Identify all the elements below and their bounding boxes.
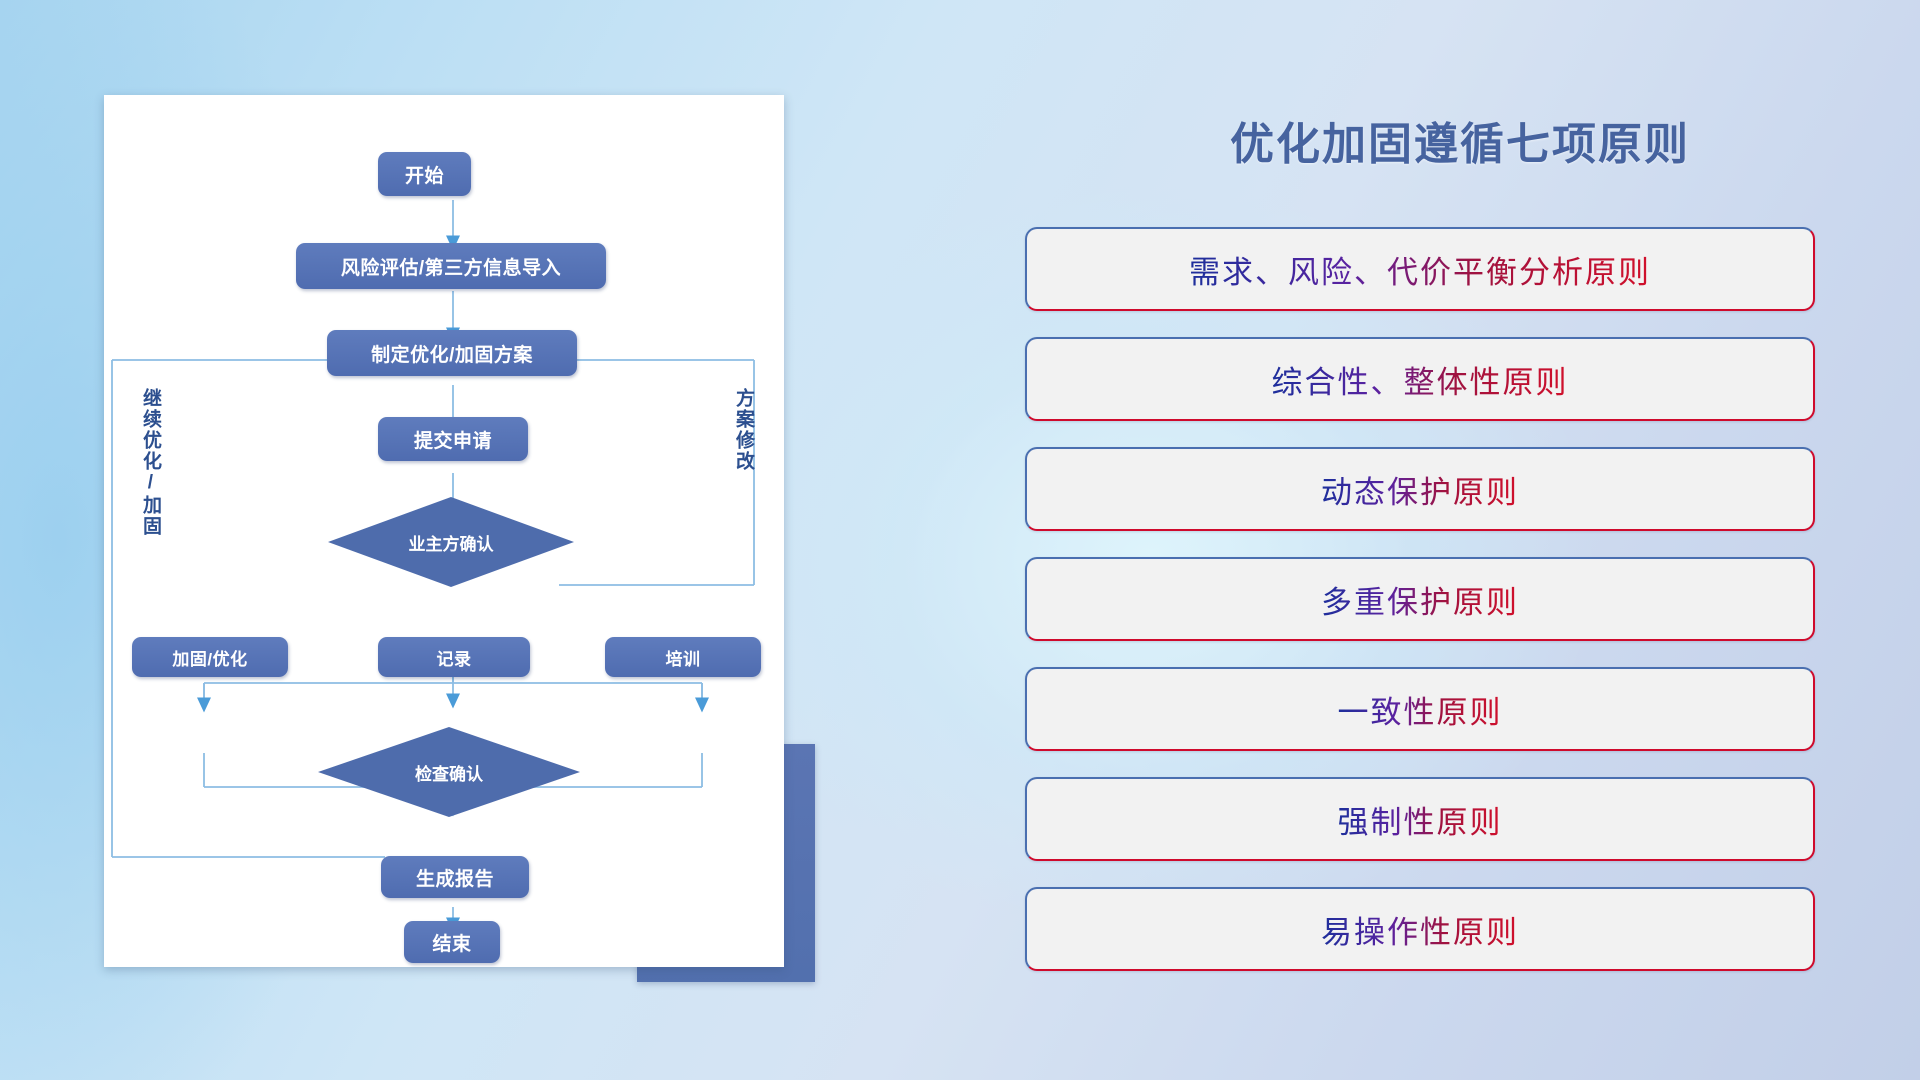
principles-list: 需求、风险、代价平衡分析原则 综合性、整体性原则 动态保护原则 多重保护原则 一… bbox=[1025, 227, 1815, 997]
principle-label: 动态保护原则 bbox=[1321, 467, 1519, 512]
slide-canvas: 开始 风险评估/第三方信息导入 制定优化/加固方案 提交申请 业主方确认 加固/… bbox=[0, 0, 1920, 1080]
flow-node-risk-assessment[interactable]: 风险评估/第三方信息导入 bbox=[296, 243, 606, 289]
flow-node-end[interactable]: 结束 bbox=[404, 921, 500, 963]
flow-node-report[interactable]: 生成报告 bbox=[381, 856, 529, 898]
flow-node-label: 培训 bbox=[666, 645, 701, 670]
principle-item[interactable]: 动态保护原则 bbox=[1025, 447, 1815, 531]
principles-panel: 优化加固遵循七项原则 需求、风险、代价平衡分析原则 综合性、整体性原则 动态保护… bbox=[1020, 0, 1920, 1080]
principle-label: 一致性原则 bbox=[1338, 687, 1503, 732]
flow-node-label: 记录 bbox=[437, 645, 472, 670]
page-title: 优化加固遵循七项原则 bbox=[1020, 108, 1900, 172]
flow-node-label: 结束 bbox=[432, 929, 471, 956]
flow-node-label: 提交申请 bbox=[414, 426, 492, 453]
principle-label: 强制性原则 bbox=[1338, 797, 1503, 842]
flow-node-label: 风险评估/第三方信息导入 bbox=[341, 253, 561, 280]
flow-node-training[interactable]: 培训 bbox=[605, 637, 761, 677]
flow-node-label: 业主方确认 bbox=[409, 530, 494, 555]
flow-node-record[interactable]: 记录 bbox=[378, 637, 530, 677]
principle-item[interactable]: 强制性原则 bbox=[1025, 777, 1815, 861]
flow-node-plan[interactable]: 制定优化/加固方案 bbox=[327, 330, 577, 376]
flow-node-reinforce[interactable]: 加固/优化 bbox=[132, 637, 288, 677]
flow-node-start[interactable]: 开始 bbox=[378, 152, 471, 196]
edge-label-plan-revision: 方案修改 bbox=[733, 388, 753, 472]
principle-label: 需求、风险、代价平衡分析原则 bbox=[1189, 247, 1651, 292]
principle-item[interactable]: 需求、风险、代价平衡分析原则 bbox=[1025, 227, 1815, 311]
principle-item[interactable]: 一致性原则 bbox=[1025, 667, 1815, 751]
principle-label: 综合性、整体性原则 bbox=[1272, 357, 1569, 402]
flow-node-label: 生成报告 bbox=[416, 864, 494, 891]
flow-node-label: 加固/优化 bbox=[172, 645, 247, 670]
principle-item[interactable]: 多重保护原则 bbox=[1025, 557, 1815, 641]
principle-item[interactable]: 易操作性原则 bbox=[1025, 887, 1815, 971]
principle-label: 多重保护原则 bbox=[1321, 577, 1519, 622]
flow-node-label: 制定优化/加固方案 bbox=[371, 340, 533, 367]
flow-node-label: 开始 bbox=[405, 161, 444, 188]
flow-node-submit[interactable]: 提交申请 bbox=[378, 417, 528, 461]
principle-label: 易操作性原则 bbox=[1321, 907, 1519, 952]
flow-node-label: 检查确认 bbox=[415, 760, 483, 785]
edge-label-continue-optimize: 继续优化/加固 bbox=[140, 388, 160, 537]
principle-item[interactable]: 综合性、整体性原则 bbox=[1025, 337, 1815, 421]
